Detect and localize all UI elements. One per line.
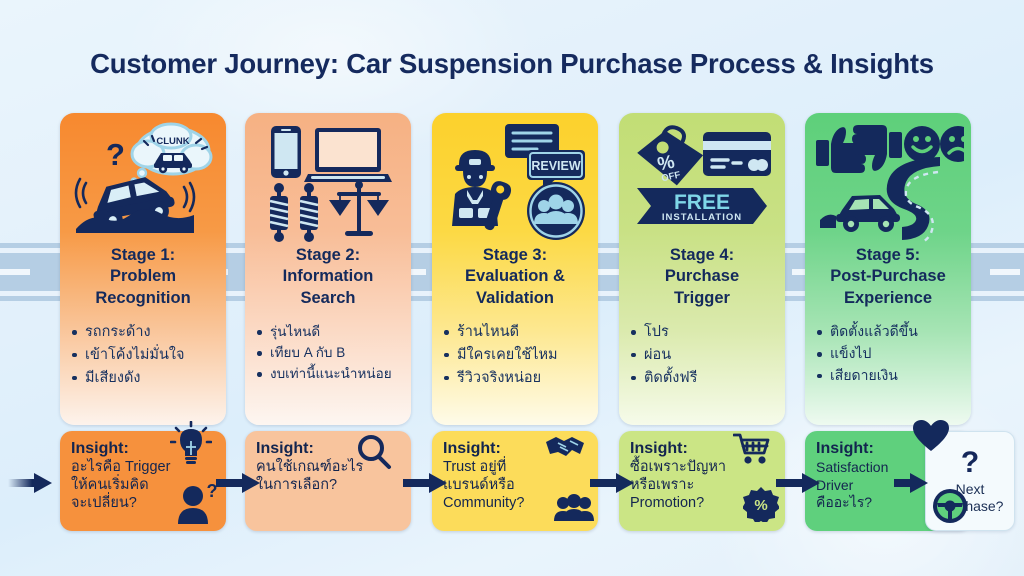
list-item: แข็งไป (817, 343, 967, 365)
infographic-canvas: Customer Journey: Car Suspension Purchas… (0, 0, 1024, 576)
stage-bullets-2: รุ่นไหนดี เทียบ A กับ B งบเท่านี้แนะนำหน… (245, 321, 411, 384)
stage-bullets-3: ร้านไหนดี มีใครเคยใช้ไหม รีวิวจริงหน่อย (432, 321, 598, 389)
stage-bullets-5: ติดตั้งแล้วดีขึ้น แข็งไป เสียดายเงิน (805, 321, 971, 386)
stage-title-line: Validation (436, 288, 594, 309)
stage-bullets-1: รถกระด้าง เข้าโค้งไม่มั่นใจ มีเสียงดัง (60, 321, 226, 389)
stage-title-line: Experience (809, 288, 967, 309)
list-item: ผ่อน (631, 344, 781, 367)
insight-label-2: Insight: (256, 440, 402, 458)
insight-label-3: Insight: (443, 440, 589, 458)
stage-title-line: Search (249, 288, 407, 309)
svg-text:FREE: FREE (674, 191, 730, 214)
insight-box-3: Insight: Trust อยู่ที่ แบรนด์หรือ Commun… (432, 431, 598, 531)
insight-text-3: Trust อยู่ที่ แบรนด์หรือ Community? (443, 459, 589, 513)
stage-title-line: Problem (64, 266, 222, 287)
insight-line: อะไรคือ Trigger (71, 459, 217, 477)
list-item: ติดตั้งแล้วดีขึ้น (817, 321, 967, 343)
flow-arrow-4-icon (776, 472, 820, 494)
page-title: Customer Journey: Car Suspension Purchas… (0, 48, 1024, 80)
svg-text:CLUNK: CLUNK (156, 136, 189, 147)
stage-title-line: Post-Purchase (809, 266, 967, 287)
stage-card-3: REVIEW (432, 113, 598, 425)
list-item: มีใครเคยใช้ไหม (444, 344, 594, 367)
insight-line: หรือเพราะ (630, 477, 776, 495)
flow-arrow-3-icon (590, 472, 634, 494)
list-item: โปร (631, 321, 781, 344)
insight-line: Promotion? (630, 495, 776, 513)
stage-title-line: Stage 3: (436, 245, 594, 266)
insight-line: ให้คนเริ่มคิด (71, 477, 217, 495)
insight-line: ซื้อเพราะปัญหา (630, 459, 776, 477)
thumbs-up-down-smiley-sad-car-winding-road-icon (805, 113, 971, 243)
stage-title-line: Recognition (64, 288, 222, 309)
stage-title-2: Stage 2: Information Search (245, 245, 411, 309)
insight-box-1: ? Insight: อะไรคือ Trigger ให้คนเริ่มคิด… (60, 431, 226, 531)
insight-text-5: Satisfaction Driver คืออะไร? (816, 459, 962, 511)
stage-title-line: Stage 1: (64, 245, 222, 266)
stage-title-line: Stage 5: (809, 245, 967, 266)
mechanic-review-bubble-community-icon: REVIEW (432, 113, 598, 243)
insight-line: จะเปลี่ยน? (71, 495, 217, 513)
insight-text-4: ซื้อเพราะปัญหา หรือเพราะ Promotion? (630, 459, 776, 513)
stage-card-5: Stage 5: Post-Purchase Experience ติดตั้… (805, 113, 971, 425)
list-item: รุ่นไหนดี (257, 321, 407, 342)
list-item: ร้านไหนดี (444, 321, 594, 344)
stage-title-line: Stage 2: (249, 245, 407, 266)
insight-line: แบรนด์หรือ (443, 477, 589, 495)
stage-title-line: Stage 4: (623, 245, 781, 266)
stage-card-1: CLUNK (60, 113, 226, 425)
insight-label-1: Insight: (71, 440, 217, 458)
stage-title-4: Stage 4: Purchase Trigger (619, 245, 785, 309)
list-item: เทียบ A กับ B (257, 342, 407, 363)
insight-box-4: % Insight: ซื้อเพราะปัญหา หรือเพราะ Prom… (619, 431, 785, 531)
insight-line: Community? (443, 495, 589, 513)
discount-tag-credit-card-free-installation-banner-icon: % OFF (619, 113, 785, 243)
svg-text:INSTALLATION: INSTALLATION (662, 212, 742, 223)
insight-line: Driver (816, 477, 962, 494)
insight-line: ในการเลือก? (256, 477, 402, 495)
list-item: งบเท่านี้แนะนำหน่อย (257, 363, 407, 384)
svg-text:REVIEW: REVIEW (531, 159, 581, 173)
phone-laptop-shock-absorbers-scale-icon (245, 113, 411, 243)
flow-arrow-start-icon (8, 472, 52, 494)
list-item: เสียดายเงิน (817, 365, 967, 387)
flow-arrow-1-icon (216, 472, 260, 494)
stage-title-line: Evaluation & (436, 266, 594, 287)
insight-line: Trust อยู่ที่ (443, 459, 589, 477)
stage-title-line: Trigger (623, 288, 781, 309)
stage-card-2: Stage 2: Information Search รุ่นไหนดี เท… (245, 113, 411, 425)
svg-text:?: ? (106, 137, 125, 172)
list-item: ติดตั้งฟรี (631, 367, 781, 390)
insight-box-2: Insight: คนใช้เกณฑ์อะไร ในการเลือก? (245, 431, 411, 531)
flow-arrow-2-icon (403, 472, 447, 494)
insight-line: คนใช้เกณฑ์อะไร (256, 459, 402, 477)
insight-text-1: อะไรคือ Trigger ให้คนเริ่มคิด จะเปลี่ยน? (71, 459, 217, 513)
list-item: รีวิวจริงหน่อย (444, 367, 594, 390)
stage-bullets-4: โปร ผ่อน ติดตั้งฟรี (619, 321, 785, 389)
stage-title-line: Information (249, 266, 407, 287)
list-item: มีเสียงดัง (72, 367, 222, 390)
stage-title-3: Stage 3: Evaluation & Validation (432, 245, 598, 309)
insight-line: Satisfaction (816, 459, 962, 476)
stage-title-5: Stage 5: Post-Purchase Experience (805, 245, 971, 309)
list-item: รถกระด้าง (72, 321, 222, 344)
stage-card-4: % OFF (619, 113, 785, 425)
insight-label-4: Insight: (630, 440, 776, 458)
stage-title-line: Purchase (623, 266, 781, 287)
car-on-bumpy-road-with-clunk-thought-bubble-icon: CLUNK (60, 113, 226, 243)
insight-text-2: คนใช้เกณฑ์อะไร ในการเลือก? (256, 459, 402, 495)
stage-title-1: Stage 1: Problem Recognition (60, 245, 226, 309)
list-item: เข้าโค้งไม่มั่นใจ (72, 344, 222, 367)
question-mark-icon: ? (961, 449, 979, 476)
insight-line: คืออะไร? (816, 494, 962, 511)
